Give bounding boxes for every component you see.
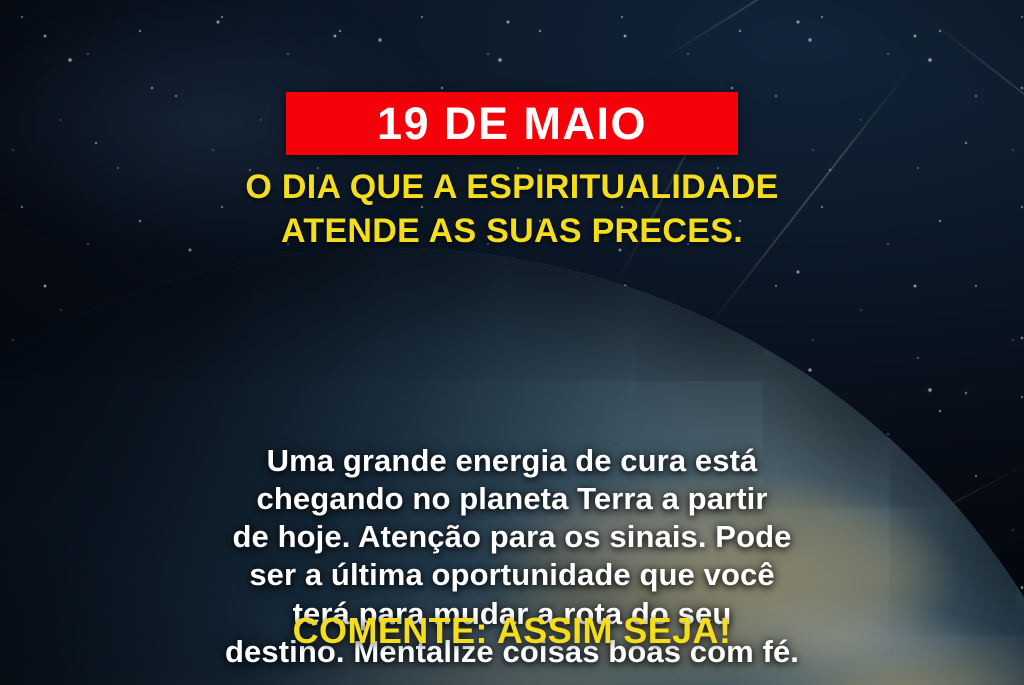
body-line-1: Uma grande energia de cura está bbox=[62, 442, 962, 480]
body-line-3: de hoje. Atenção para os sinais. Pode bbox=[62, 518, 962, 556]
date-banner-text: 19 DE MAIO bbox=[377, 101, 647, 146]
date-banner: 19 DE MAIO bbox=[286, 92, 738, 155]
poster-content: 19 DE MAIO O DIA QUE A ESPIRITUALIDADE A… bbox=[0, 0, 1024, 685]
body-line-2: chegando no planeta Terra a partir bbox=[62, 480, 962, 518]
headline-line-1: O DIA QUE A ESPIRITUALIDADE bbox=[40, 166, 984, 210]
call-to-action: COMENTE: ASSIM SEJA! bbox=[0, 613, 1024, 649]
headline: O DIA QUE A ESPIRITUALIDADE ATENDE AS SU… bbox=[0, 166, 1024, 253]
headline-line-2: ATENDE AS SUAS PRECES. bbox=[40, 210, 984, 254]
poster-canvas: 19 DE MAIO O DIA QUE A ESPIRITUALIDADE A… bbox=[0, 0, 1024, 685]
cta-text: COMENTE: ASSIM SEJA! bbox=[293, 610, 732, 651]
body-line-4: ser a última oportunidade que você bbox=[62, 556, 962, 594]
